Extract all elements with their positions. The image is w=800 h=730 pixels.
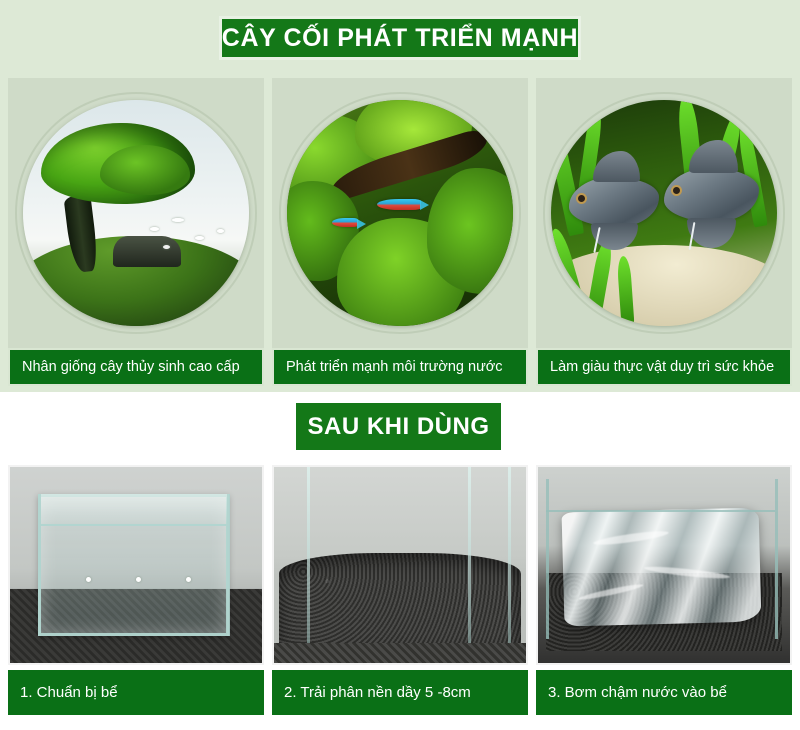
step-panel-3[interactable]: 3. Bơm chậm nước vào bể (536, 465, 792, 717)
step-caption-text-1: 1. Chuẩn bị bể (20, 684, 118, 701)
circle-ring-1 (15, 92, 257, 334)
step-caption-1: 1. Chuẩn bị bể (8, 670, 264, 715)
step-caption-text-3: 3. Bơm chậm nước vào bể (548, 684, 727, 701)
feature-caption-text-1: Nhân giống cây thủy sinh cao cấp (22, 359, 240, 375)
circle-image-stage-1 (8, 78, 264, 348)
circle-image-stage-2 (272, 78, 528, 348)
circle-panel-row: Nhân giống cây thủy sinh cao cấp (0, 78, 800, 386)
step-caption-3: 3. Bơm chậm nước vào bể (536, 670, 792, 715)
feature-caption-text-2: Phát triển mạnh môi trường nước (286, 359, 503, 375)
after-use-title-banner: SAU KHI DÙNG (296, 403, 501, 450)
step-panel-2[interactable]: 2. Trải phân nền dầy 5 -8cm (272, 465, 528, 717)
after-use-section: SAU KHI DÙNG 1. Chuẩn bị (0, 392, 800, 730)
feature-caption-3: Làm giàu thực vật duy trì sức khỏe (536, 348, 792, 386)
step-caption-2: 2. Trải phân nền dầy 5 -8cm (272, 670, 528, 715)
step-caption-text-2: 2. Trải phân nền dầy 5 -8cm (284, 684, 471, 701)
page-title: CÂY CỐI PHÁT TRIỂN MẠNH (222, 24, 578, 53)
circle-ring-3 (543, 92, 785, 334)
feature-caption-text-3: Làm giàu thực vật duy trì sức khỏe (550, 359, 774, 375)
feature-panel-1[interactable]: Nhân giống cây thủy sinh cao cấp (8, 78, 264, 386)
feature-caption-2: Phát triển mạnh môi trường nước (272, 348, 528, 386)
feature-panel-2[interactable]: Phát triển mạnh môi trường nước (272, 78, 528, 386)
circle-ring-2 (279, 92, 521, 334)
planted-tank-tetras-circle-photo (287, 100, 513, 326)
empty-glass-tank-photo (8, 465, 264, 665)
step-panel-1[interactable]: 1. Chuẩn bị bể (8, 465, 264, 717)
after-use-title: SAU KHI DÙNG (307, 413, 489, 441)
plastic-sheet-water-pour-photo (536, 465, 792, 665)
plant-growth-section: CÂY CỐI PHÁT TRIỂN MẠNH (0, 0, 800, 392)
substrate-layer-photo (272, 465, 528, 665)
bonsai-aquascape-circle-photo (23, 100, 249, 326)
circle-image-stage-3 (536, 78, 792, 348)
step-photo-row: 1. Chuẩn bị bể 2. Trải phân nền dầy 5 -8… (0, 465, 800, 717)
feature-panel-3[interactable]: Làm giàu thực vật duy trì sức khỏe (536, 78, 792, 386)
angelfish-plants-circle-photo (551, 100, 777, 326)
section-title-banner: CÂY CỐI PHÁT TRIỂN MẠNH (219, 16, 581, 60)
feature-caption-1: Nhân giống cây thủy sinh cao cấp (8, 348, 264, 386)
